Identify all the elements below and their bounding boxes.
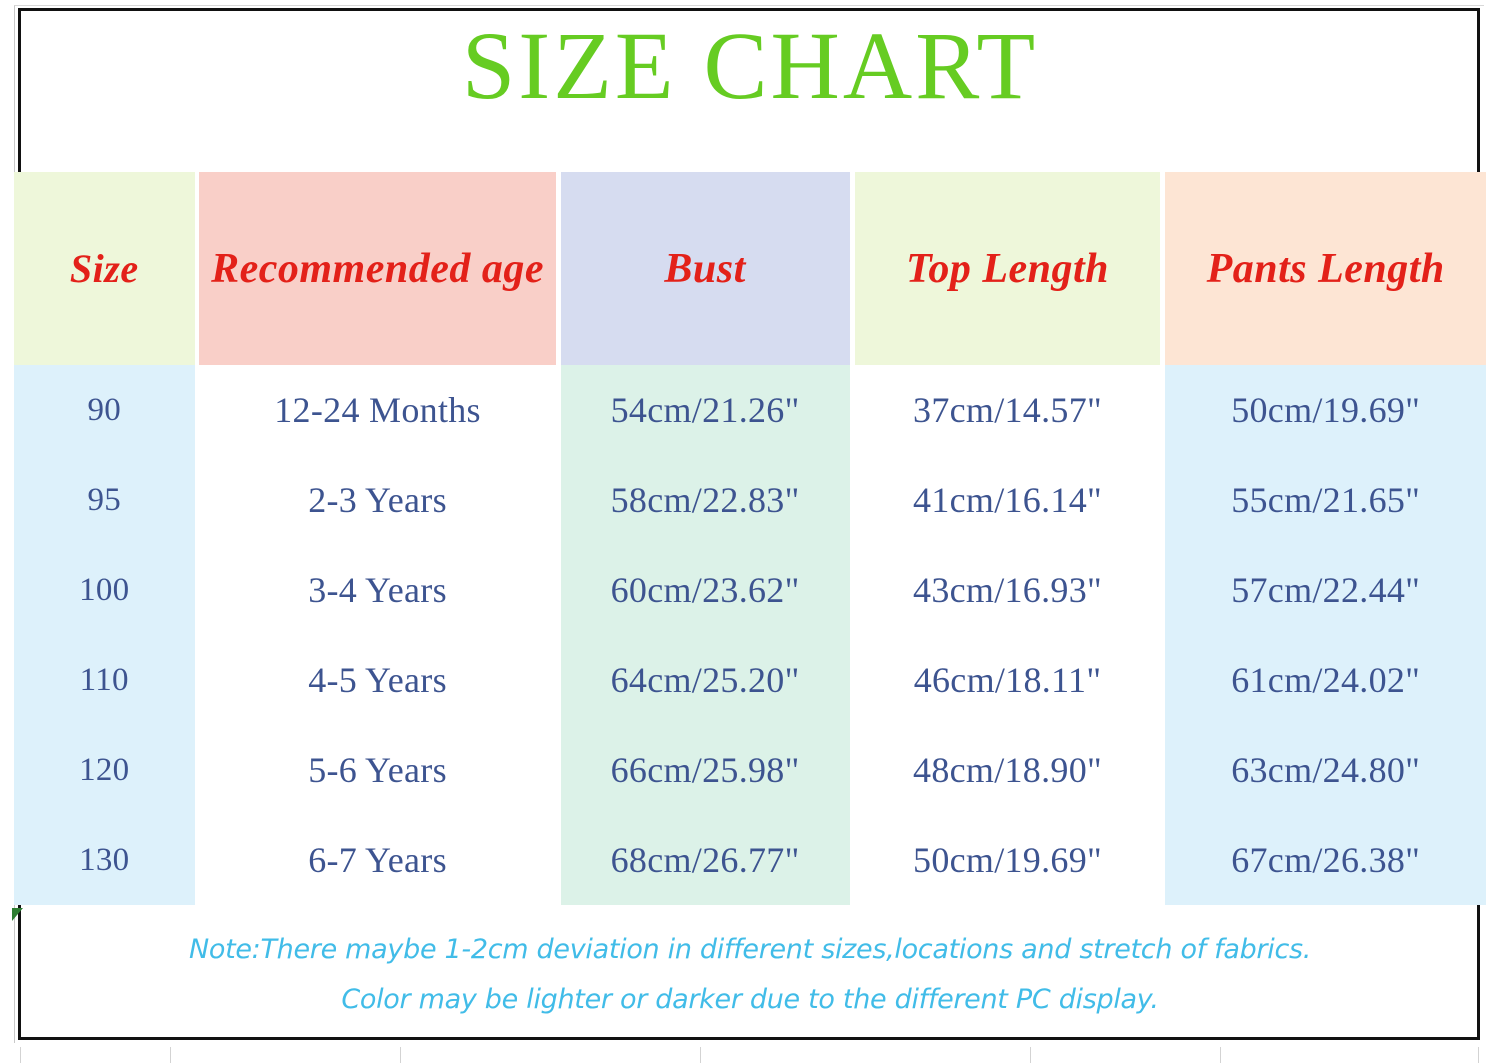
ruler-tick [1030,1047,1031,1063]
cell-pants-length: 50cm/19.69" [1165,365,1486,455]
size-chart-page: SIZE CHART Size Recommended age Bust Top… [0,0,1500,1063]
cell-pants-length: 57cm/22.44" [1165,545,1486,635]
cell-recommended-age: 6-7 Years [199,815,555,905]
cell-top-length: 41cm/16.14" [855,455,1161,545]
cell-size: 90 [14,365,195,455]
table-row: 95 2-3 Years 58cm/22.83" 41cm/16.14" 55c… [14,455,1486,545]
cell-pants-length: 55cm/21.65" [1165,455,1486,545]
cell-pants-length: 63cm/24.80" [1165,725,1486,815]
ruler-tick [700,1047,701,1063]
cell-size: 110 [14,635,195,725]
cell-bust: 68cm/26.77" [561,815,850,905]
cell-size: 100 [14,545,195,635]
table-header-row: Size Recommended age Bust Top Length Pan… [14,172,1486,365]
cell-top-length: 48cm/18.90" [855,725,1161,815]
table-row: 110 4-5 Years 64cm/25.20" 46cm/18.11" 61… [14,635,1486,725]
cell-pants-length: 67cm/26.38" [1165,815,1486,905]
cell-top-length: 50cm/19.69" [855,815,1161,905]
cell-recommended-age: 2-3 Years [199,455,555,545]
cell-pants-length: 61cm/24.02" [1165,635,1486,725]
ruler-tick [400,1047,401,1063]
column-header-bust: Bust [561,172,850,365]
cell-bust: 66cm/25.98" [561,725,850,815]
ruler-tick [1220,1047,1221,1063]
cell-recommended-age: 5-6 Years [199,725,555,815]
cell-bust: 64cm/25.20" [561,635,850,725]
page-title: SIZE CHART [0,14,1500,118]
cell-bust: 60cm/23.62" [561,545,850,635]
note-color-display: Color may be lighter or darker due to th… [0,984,1500,1015]
note-deviation: Note:There maybe 1-2cm deviation in diff… [0,934,1500,965]
cell-top-length: 37cm/14.57" [855,365,1161,455]
green-corner-mark [12,908,23,921]
cell-recommended-age: 12-24 Months [199,365,555,455]
cell-recommended-age: 4-5 Years [199,635,555,725]
table-row: 130 6-7 Years 68cm/26.77" 50cm/19.69" 67… [14,815,1486,905]
column-header-pants-length: Pants Length [1165,172,1486,365]
cell-size: 95 [14,455,195,545]
table-row: 90 12-24 Months 54cm/21.26" 37cm/14.57" … [14,365,1486,455]
ruler-tick [170,1047,171,1063]
cell-top-length: 43cm/16.93" [855,545,1161,635]
column-header-top-length: Top Length [855,172,1161,365]
column-header-size: Size [14,172,195,365]
table-row: 120 5-6 Years 66cm/25.98" 48cm/18.90" 63… [14,725,1486,815]
cell-size: 120 [14,725,195,815]
cell-top-length: 46cm/18.11" [855,635,1161,725]
table-row: 100 3-4 Years 60cm/23.62" 43cm/16.93" 57… [14,545,1486,635]
cell-bust: 54cm/21.26" [561,365,850,455]
cell-size: 130 [14,815,195,905]
table-body: 90 12-24 Months 54cm/21.26" 37cm/14.57" … [14,365,1486,905]
size-chart-table: Size Recommended age Bust Top Length Pan… [14,172,1486,905]
cell-bust: 58cm/22.83" [561,455,850,545]
ruler-tick [20,1047,21,1063]
ruler-tick [1478,1047,1479,1063]
cell-recommended-age: 3-4 Years [199,545,555,635]
column-header-recommended-age: Recommended age [199,172,555,365]
